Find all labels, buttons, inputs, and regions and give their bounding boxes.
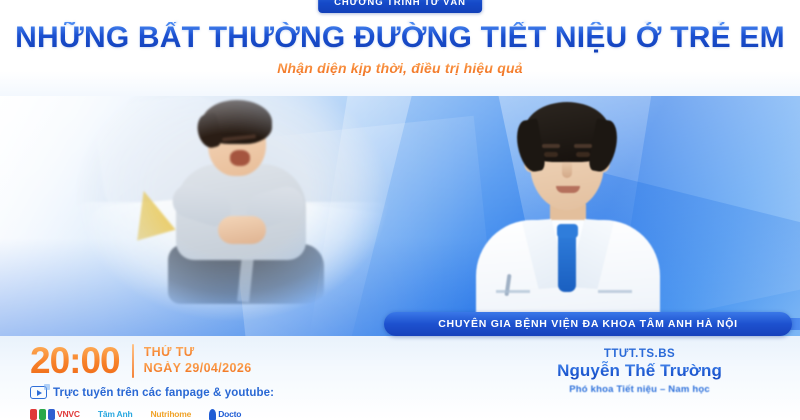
- child-hands: [218, 216, 266, 244]
- partner-logos: VNVC Tâm Anh Nutrihome Docto: [30, 406, 241, 420]
- doctor-eye-right: [576, 152, 590, 157]
- speaker-name: Nguyễn Thế Trường: [557, 361, 722, 381]
- partner-logo[interactable]: Docto: [209, 406, 241, 420]
- header-zone: CHƯƠNG TRÌNH TƯ VẤN NHỮNG BẤT THƯỜNG ĐƯỜ…: [0, 0, 800, 96]
- schedule-block: 20:00 THỨ TƯ NGÀY 29/04/2026: [30, 342, 252, 379]
- page-subtitle: Nhận diện kịp thời, điều trị hiệu quả: [0, 60, 800, 76]
- broadcast-time: 20:00: [30, 342, 120, 379]
- doctor-photo: [452, 94, 682, 340]
- logo-mark: [48, 409, 55, 420]
- video-stream-icon: [30, 386, 47, 399]
- doctor-brow-left: [542, 144, 560, 148]
- partner-logo[interactable]: Tâm Anh: [98, 406, 133, 420]
- doctor-mouth: [556, 186, 580, 193]
- page-title: NHỮNG BẤT THƯỜNG ĐƯỜNG TIẾT NIỆU Ở TRẺ E…: [0, 22, 800, 54]
- logo-label: Nutrihome: [150, 409, 191, 419]
- partner-logo[interactable]: Nutrihome: [150, 406, 191, 420]
- logo-label: Tâm Anh: [98, 409, 133, 419]
- doctor-pocket-left: [496, 290, 530, 293]
- doctor-pocket-right: [598, 290, 632, 293]
- doctor-brow-right: [574, 144, 592, 148]
- logo-label: Docto: [218, 409, 241, 419]
- webinar-poster: CHUYÊN GIA BỆNH VIỆN ĐA KHOA TÂM ANH HÀ …: [0, 0, 800, 420]
- speaker-credential: TTƯT.TS.BS: [557, 348, 722, 360]
- logo-mark: [30, 409, 37, 420]
- doctor-nose: [562, 160, 572, 178]
- child-photo: [72, 88, 392, 334]
- speaker-block: TTƯT.TS.BS Nguyễn Thế Trường Phó khoa Ti…: [557, 348, 722, 395]
- logo-label: VNVC: [57, 409, 80, 419]
- broadcast-date: NGÀY 29/04/2026: [144, 361, 252, 377]
- logo-mark: [209, 409, 216, 420]
- partner-logo[interactable]: VNVC: [30, 406, 80, 420]
- stage-background: [0, 88, 800, 340]
- date-column: THỨ TƯ NGÀY 29/04/2026: [144, 345, 252, 376]
- doctor-tie: [558, 230, 576, 292]
- footer-zone: 20:00 THỨ TƯ NGÀY 29/04/2026 Trực tuyến …: [0, 336, 800, 420]
- day-of-week: THỨ TƯ: [144, 345, 252, 361]
- doctor-eye-left: [544, 152, 558, 157]
- expert-banner: CHUYÊN GIA BỆNH VIỆN ĐA KHOA TÂM ANH HÀ …: [384, 312, 792, 336]
- schedule-divider: [132, 344, 134, 378]
- speaker-role: Phó khoa Tiết niệu – Nam học: [557, 384, 722, 395]
- online-note: Trực tuyến trên các fanpage & youtube:: [53, 387, 274, 399]
- program-badge: CHƯƠNG TRÌNH TƯ VẤN: [318, 0, 482, 13]
- child-mouth: [230, 150, 250, 166]
- doctor-tie-knot: [557, 224, 578, 238]
- logo-mark: [39, 409, 46, 420]
- online-channels-row: Trực tuyến trên các fanpage & youtube:: [30, 386, 274, 399]
